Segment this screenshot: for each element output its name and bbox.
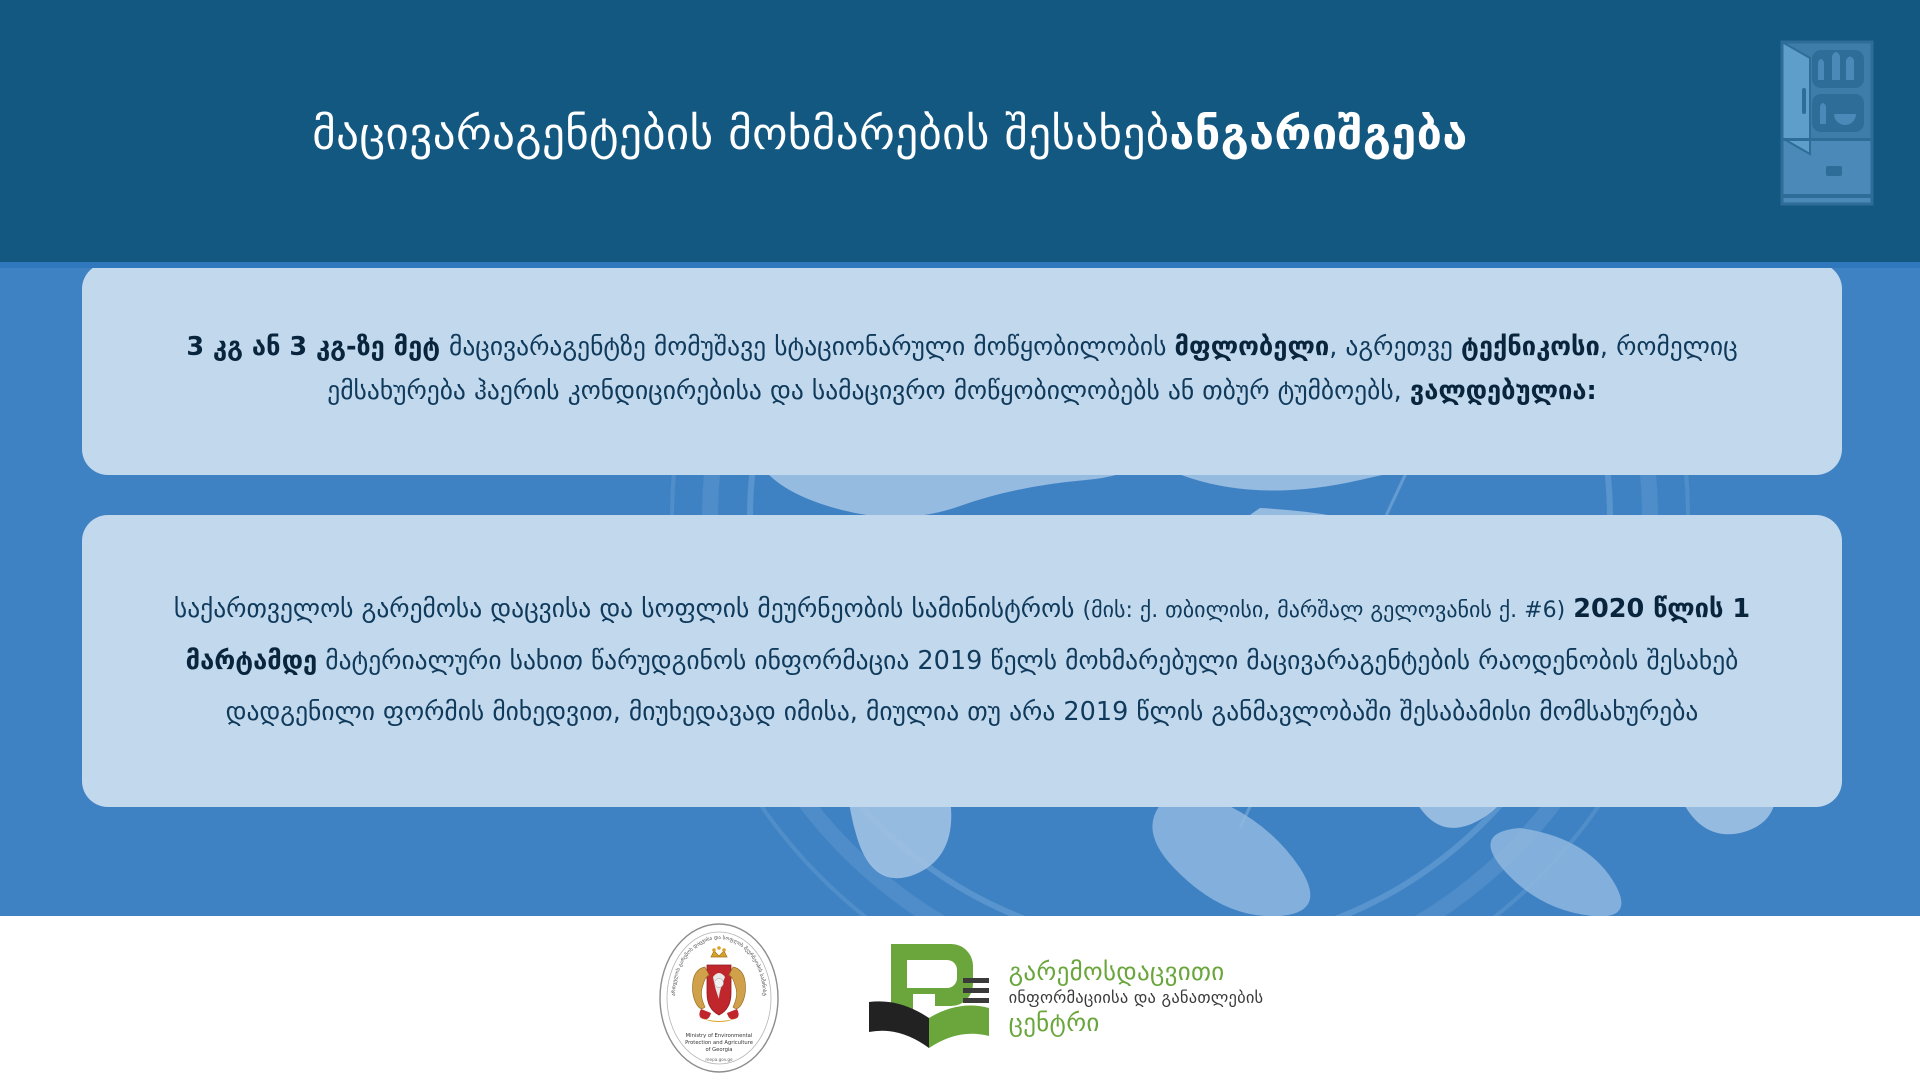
page-title-bold: ანგარიშგება	[1169, 109, 1467, 159]
reporting-requirement-card: საქართველოს გარემოსა დაცვისა და სოფლის მ…	[82, 515, 1842, 807]
text-segment-6: ვალდებულია:	[1410, 376, 1597, 406]
slide: მაცივარაგენტების მოხმარების შესახებ ანგა…	[0, 0, 1920, 1080]
text-segment-4: ტექნიკოსი	[1461, 332, 1600, 362]
text-segment-0: საქართველოს გარემოსა დაცვისა და სოფლის მ…	[174, 594, 1083, 624]
page-title: მაცივარაგენტების მოხმარების შესახებ ანგა…	[0, 0, 1740, 268]
ministry-of-environment-emblem: საქართველოს გარემოს დაცვისა და სოფლის მე…	[657, 921, 781, 1075]
text-segment-3: , აგრეთვე	[1329, 332, 1461, 362]
refrigerator-icon	[1770, 32, 1882, 214]
slide-header: მაცივარაგენტების მოხმარების შესახებ ანგა…	[0, 0, 1920, 268]
text-segment-0: 3 კგ ან 3 კგ-ზე მეტ	[186, 332, 449, 362]
centre-logo-line-1: გარემოსდაცვითი	[1009, 957, 1264, 988]
emblem-line-1: Ministry of Environmental	[685, 1033, 752, 1039]
emblem-line-2: Protection and Agriculture	[685, 1040, 753, 1046]
centre-logo-text: გარემოსდაცვითი ინფორმაციისა და განათლები…	[1009, 957, 1264, 1038]
slide-body: 3 კგ ან 3 კგ-ზე მეტ მაცივარაგენტზე მომუშ…	[0, 268, 1920, 916]
text-segment-4: მატერიალური სახით წარუდგინოს ინფორმაცია …	[226, 646, 1739, 727]
page-title-normal: მაცივარაგენტების მოხმარების შესახებ	[312, 109, 1169, 159]
text-segment-1: (მის: ქ. თბილისი, მარშალ გელოვანის ქ. #6…	[1083, 598, 1566, 623]
obligation-statement-text: 3 კგ ან 3 კგ-ზე მეტ მაცივარაგენტზე მომუშ…	[126, 325, 1798, 413]
environmental-information-education-centre-logo: გარემოსდაცვითი ინფორმაციისა და განათლები…	[867, 938, 1264, 1058]
emblem-line-4: mepa.gov.ge	[705, 1057, 733, 1062]
text-segment-1: მაცივარაგენტზე მომუშავე სტაციონარული მოწ…	[449, 332, 1175, 362]
centre-logo-line-3: ცენტრი	[1009, 1008, 1264, 1039]
emblem-line-3: of Georgia	[705, 1047, 732, 1053]
reporting-requirement-text: საქართველოს გარემოსა დაცვისა და სოფლის მ…	[122, 584, 1802, 738]
slide-footer: საქართველოს გარემოს დაცვისა და სოფლის მე…	[0, 916, 1920, 1080]
obligation-statement-card: 3 კგ ან 3 კგ-ზე მეტ მაცივარაგენტზე მომუშ…	[82, 268, 1842, 475]
text-segment-2: მფლობელი	[1175, 332, 1330, 362]
centre-logo-mark	[867, 938, 995, 1058]
centre-logo-line-2: ინფორმაციისა და განათლების	[1009, 988, 1264, 1008]
